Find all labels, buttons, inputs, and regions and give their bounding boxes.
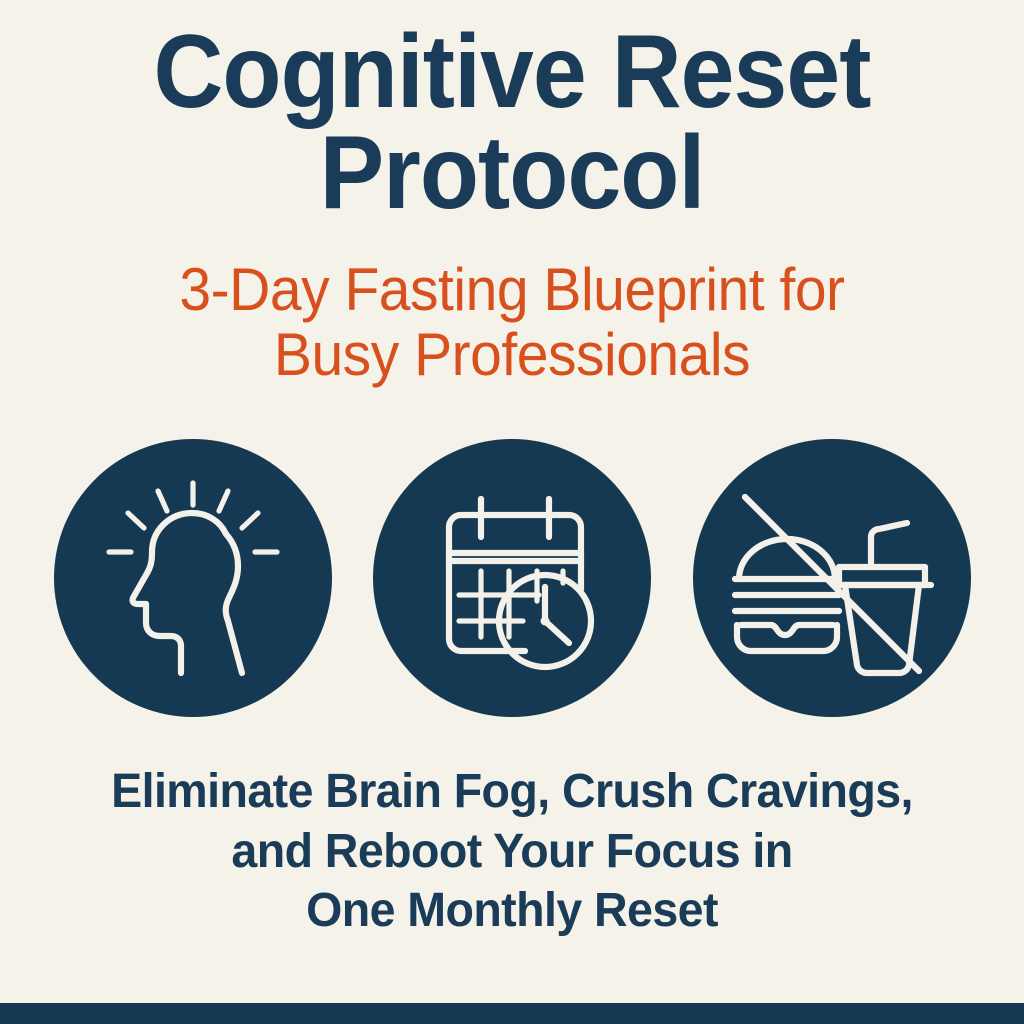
poster-canvas: Cognitive Reset Protocol 3-Day Fasting B… <box>0 0 1024 1024</box>
no-junk-food-icon <box>693 439 971 717</box>
calendar-clock-icon <box>373 439 651 717</box>
page-title-line-2: Protocol <box>36 123 988 224</box>
tagline-line-2: and Reboot Your Focus in <box>15 822 1008 882</box>
footer-accent-bar <box>0 1003 1024 1024</box>
page-title-line-1: Cognitive Reset <box>36 22 988 123</box>
page-subtitle-line-1: 3-Day Fasting Blueprint for <box>26 258 999 323</box>
page-subtitle-line-2: Busy Professionals <box>26 323 999 388</box>
icon-badge-clarity <box>54 439 332 717</box>
icon-badge-schedule <box>373 439 651 717</box>
tagline-line-3: One Monthly Reset <box>15 881 1008 941</box>
head-with-rays-icon <box>54 439 332 717</box>
icon-badge-no-junk-food <box>693 439 971 717</box>
tagline: Eliminate Brain Fog, Crush Cravings, and… <box>15 762 1008 941</box>
page-subtitle: 3-Day Fasting Blueprint for Busy Profess… <box>26 258 999 388</box>
icon-row <box>0 439 1024 717</box>
page-title: Cognitive Reset Protocol <box>36 22 988 224</box>
tagline-line-1: Eliminate Brain Fog, Crush Cravings, <box>15 762 1008 822</box>
